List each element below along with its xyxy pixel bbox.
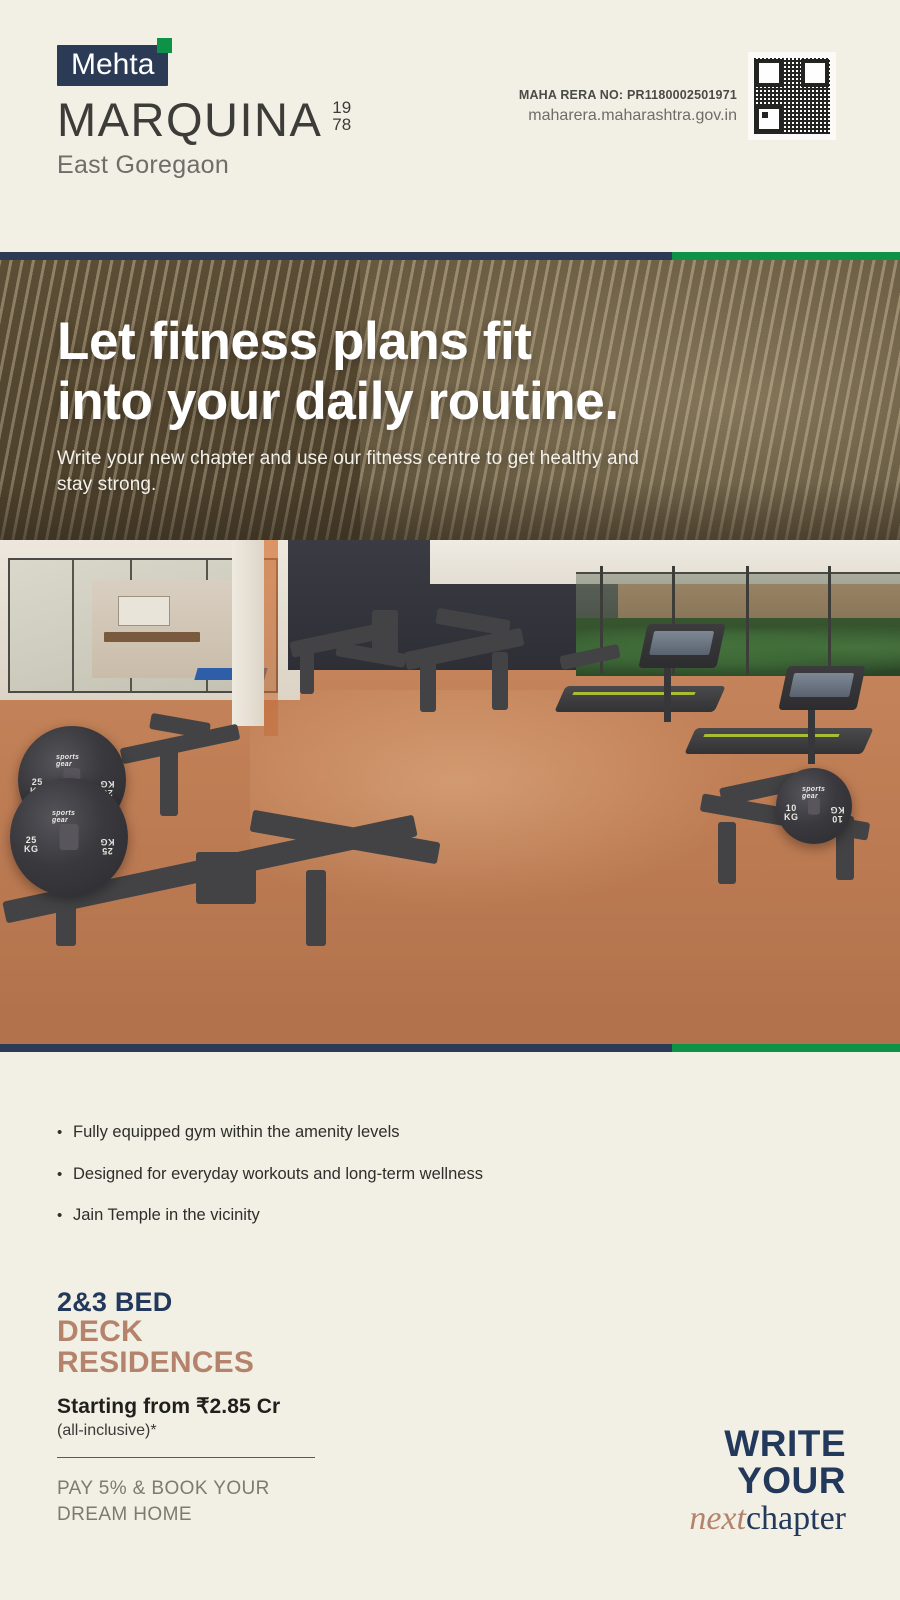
project-locality: East Goregaon bbox=[57, 153, 351, 178]
plate-weight-label: 10KG bbox=[830, 804, 845, 823]
qr-code-icon bbox=[754, 58, 830, 134]
project-title-row: MARQUINA 19 78 bbox=[57, 96, 351, 143]
plate-weight-label: 25KG bbox=[24, 836, 39, 855]
divider bbox=[57, 1457, 315, 1458]
machine-leg bbox=[718, 822, 736, 884]
established-year: 19 78 bbox=[332, 99, 351, 134]
plate-brand-label: sportsgear bbox=[802, 786, 825, 801]
mehta-logo-text: Mehta bbox=[71, 50, 154, 80]
railing-post bbox=[746, 566, 749, 674]
rera-website: maharera.maharashtra.gov.in bbox=[519, 107, 737, 125]
tagline-line2: YOUR bbox=[689, 1462, 846, 1499]
treadmill-console bbox=[639, 624, 726, 668]
cta-line1: PAY 5% & BOOK YOUR bbox=[57, 1478, 270, 1499]
treadmill bbox=[690, 700, 868, 776]
price-note: (all-inclusive)* bbox=[57, 1422, 477, 1440]
feature-text: Designed for everyday workouts and long-… bbox=[73, 1164, 483, 1185]
hero-headline-line1: Let fitness plans fit bbox=[57, 312, 757, 372]
bullet-icon: • bbox=[57, 1167, 73, 1182]
plate-weight-label: 10KG bbox=[784, 804, 799, 823]
tagline-italic-word: next bbox=[689, 1500, 746, 1537]
price-label: Starting from ₹2.85 Cr bbox=[57, 1394, 477, 1419]
hero-copy: Let fitness plans fit into your daily ro… bbox=[57, 312, 757, 498]
qr-code[interactable] bbox=[748, 52, 836, 140]
page-title: MARQUINA bbox=[57, 96, 322, 143]
residence-type-line1: DECK bbox=[57, 1317, 477, 1348]
lounge-table bbox=[104, 632, 200, 642]
plate-brand-label: sportsgear bbox=[52, 810, 75, 825]
plate-brand-label: sportsgear bbox=[56, 754, 79, 769]
bullet-icon: • bbox=[57, 1125, 73, 1140]
treadmill-stripe bbox=[704, 734, 841, 737]
feature-list: • Fully equipped gym within the amenity … bbox=[57, 1122, 757, 1247]
leg-press-pad bbox=[196, 852, 256, 904]
treadmill-post bbox=[664, 666, 671, 722]
accent-bar-green bbox=[672, 252, 900, 260]
list-item: • Fully equipped gym within the amenity … bbox=[57, 1122, 757, 1143]
leg-press-leg bbox=[306, 870, 326, 946]
residence-type-line2: RESIDENCES bbox=[57, 1348, 477, 1379]
offer-block: 2&3 BED DECK RESIDENCES Starting from ₹2… bbox=[57, 1288, 477, 1528]
established-year-top: 19 bbox=[332, 99, 351, 116]
weight-plate: sportsgear 10KG 10KG bbox=[776, 768, 852, 844]
feature-text: Jain Temple in the vicinity bbox=[73, 1205, 260, 1226]
gym-machine-seat bbox=[372, 610, 398, 658]
mullion bbox=[72, 560, 74, 691]
railing-post bbox=[828, 566, 831, 674]
hero-banner: sportsgear 10KG 10KG sportsgear 25KG 25K… bbox=[0, 252, 900, 1052]
accent-bar-green bbox=[672, 1044, 900, 1052]
cta-line2: DREAM HOME bbox=[57, 1504, 192, 1525]
plate-weight-label: 25KG bbox=[100, 836, 115, 855]
treadmill-console bbox=[778, 666, 865, 710]
list-item: • Jain Temple in the vicinity bbox=[57, 1205, 757, 1226]
hero-subtext: Write your new chapter and use our fitne… bbox=[57, 446, 657, 498]
tagline-serif-word: chapter bbox=[746, 1500, 846, 1537]
treadmill-screen bbox=[789, 673, 854, 697]
rera-info: MAHA RERA NO: PR1180002501971 maharera.m… bbox=[519, 88, 737, 125]
accent-bar-navy bbox=[0, 1044, 672, 1052]
treadmill-stripe bbox=[572, 692, 695, 695]
green-square-icon bbox=[157, 38, 172, 53]
tagline-line1: WRITE bbox=[689, 1425, 846, 1462]
weight-plate: sportsgear 25KG 25KG bbox=[10, 778, 128, 896]
header: Mehta MARQUINA 19 78 East Goregaon MAHA … bbox=[0, 0, 900, 252]
mehta-logo: Mehta bbox=[57, 45, 168, 86]
cta-text: PAY 5% & BOOK YOUR DREAM HOME bbox=[57, 1476, 477, 1527]
gym-interior-image: sportsgear 10KG 10KG sportsgear 25KG 25K… bbox=[0, 540, 900, 1052]
accent-bar-bottom bbox=[0, 1044, 900, 1052]
accent-bar-navy bbox=[0, 252, 672, 260]
advertisement-page: Mehta MARQUINA 19 78 East Goregaon MAHA … bbox=[0, 0, 900, 1600]
rera-number: MAHA RERA NO: PR1180002501971 bbox=[519, 88, 737, 102]
plate-hub bbox=[60, 824, 79, 850]
gym-machine-post bbox=[300, 640, 314, 694]
hero-headline-line2: into your daily routine. bbox=[57, 372, 757, 432]
bench-leg bbox=[492, 652, 508, 710]
brand-lockup: Mehta MARQUINA 19 78 East Goregaon bbox=[57, 45, 351, 178]
tagline-line3: nextchapter bbox=[689, 1502, 846, 1536]
qr-finder-bottom-left bbox=[755, 105, 783, 133]
treadmill-post bbox=[808, 708, 815, 764]
accent-bar-top bbox=[0, 252, 900, 260]
bike-post bbox=[160, 744, 178, 816]
feature-text: Fully equipped gym within the amenity le… bbox=[73, 1122, 400, 1143]
treadmill-screen bbox=[649, 631, 714, 655]
established-year-bottom: 78 bbox=[332, 116, 351, 133]
bench-leg bbox=[420, 652, 436, 712]
treadmill-belt bbox=[684, 728, 874, 754]
tagline-logo: WRITE YOUR nextchapter bbox=[689, 1425, 846, 1536]
wall-art bbox=[118, 596, 170, 626]
bullet-icon: • bbox=[57, 1208, 73, 1223]
configuration-label: 2&3 BED bbox=[57, 1288, 477, 1317]
list-item: • Designed for everyday workouts and lon… bbox=[57, 1164, 757, 1185]
